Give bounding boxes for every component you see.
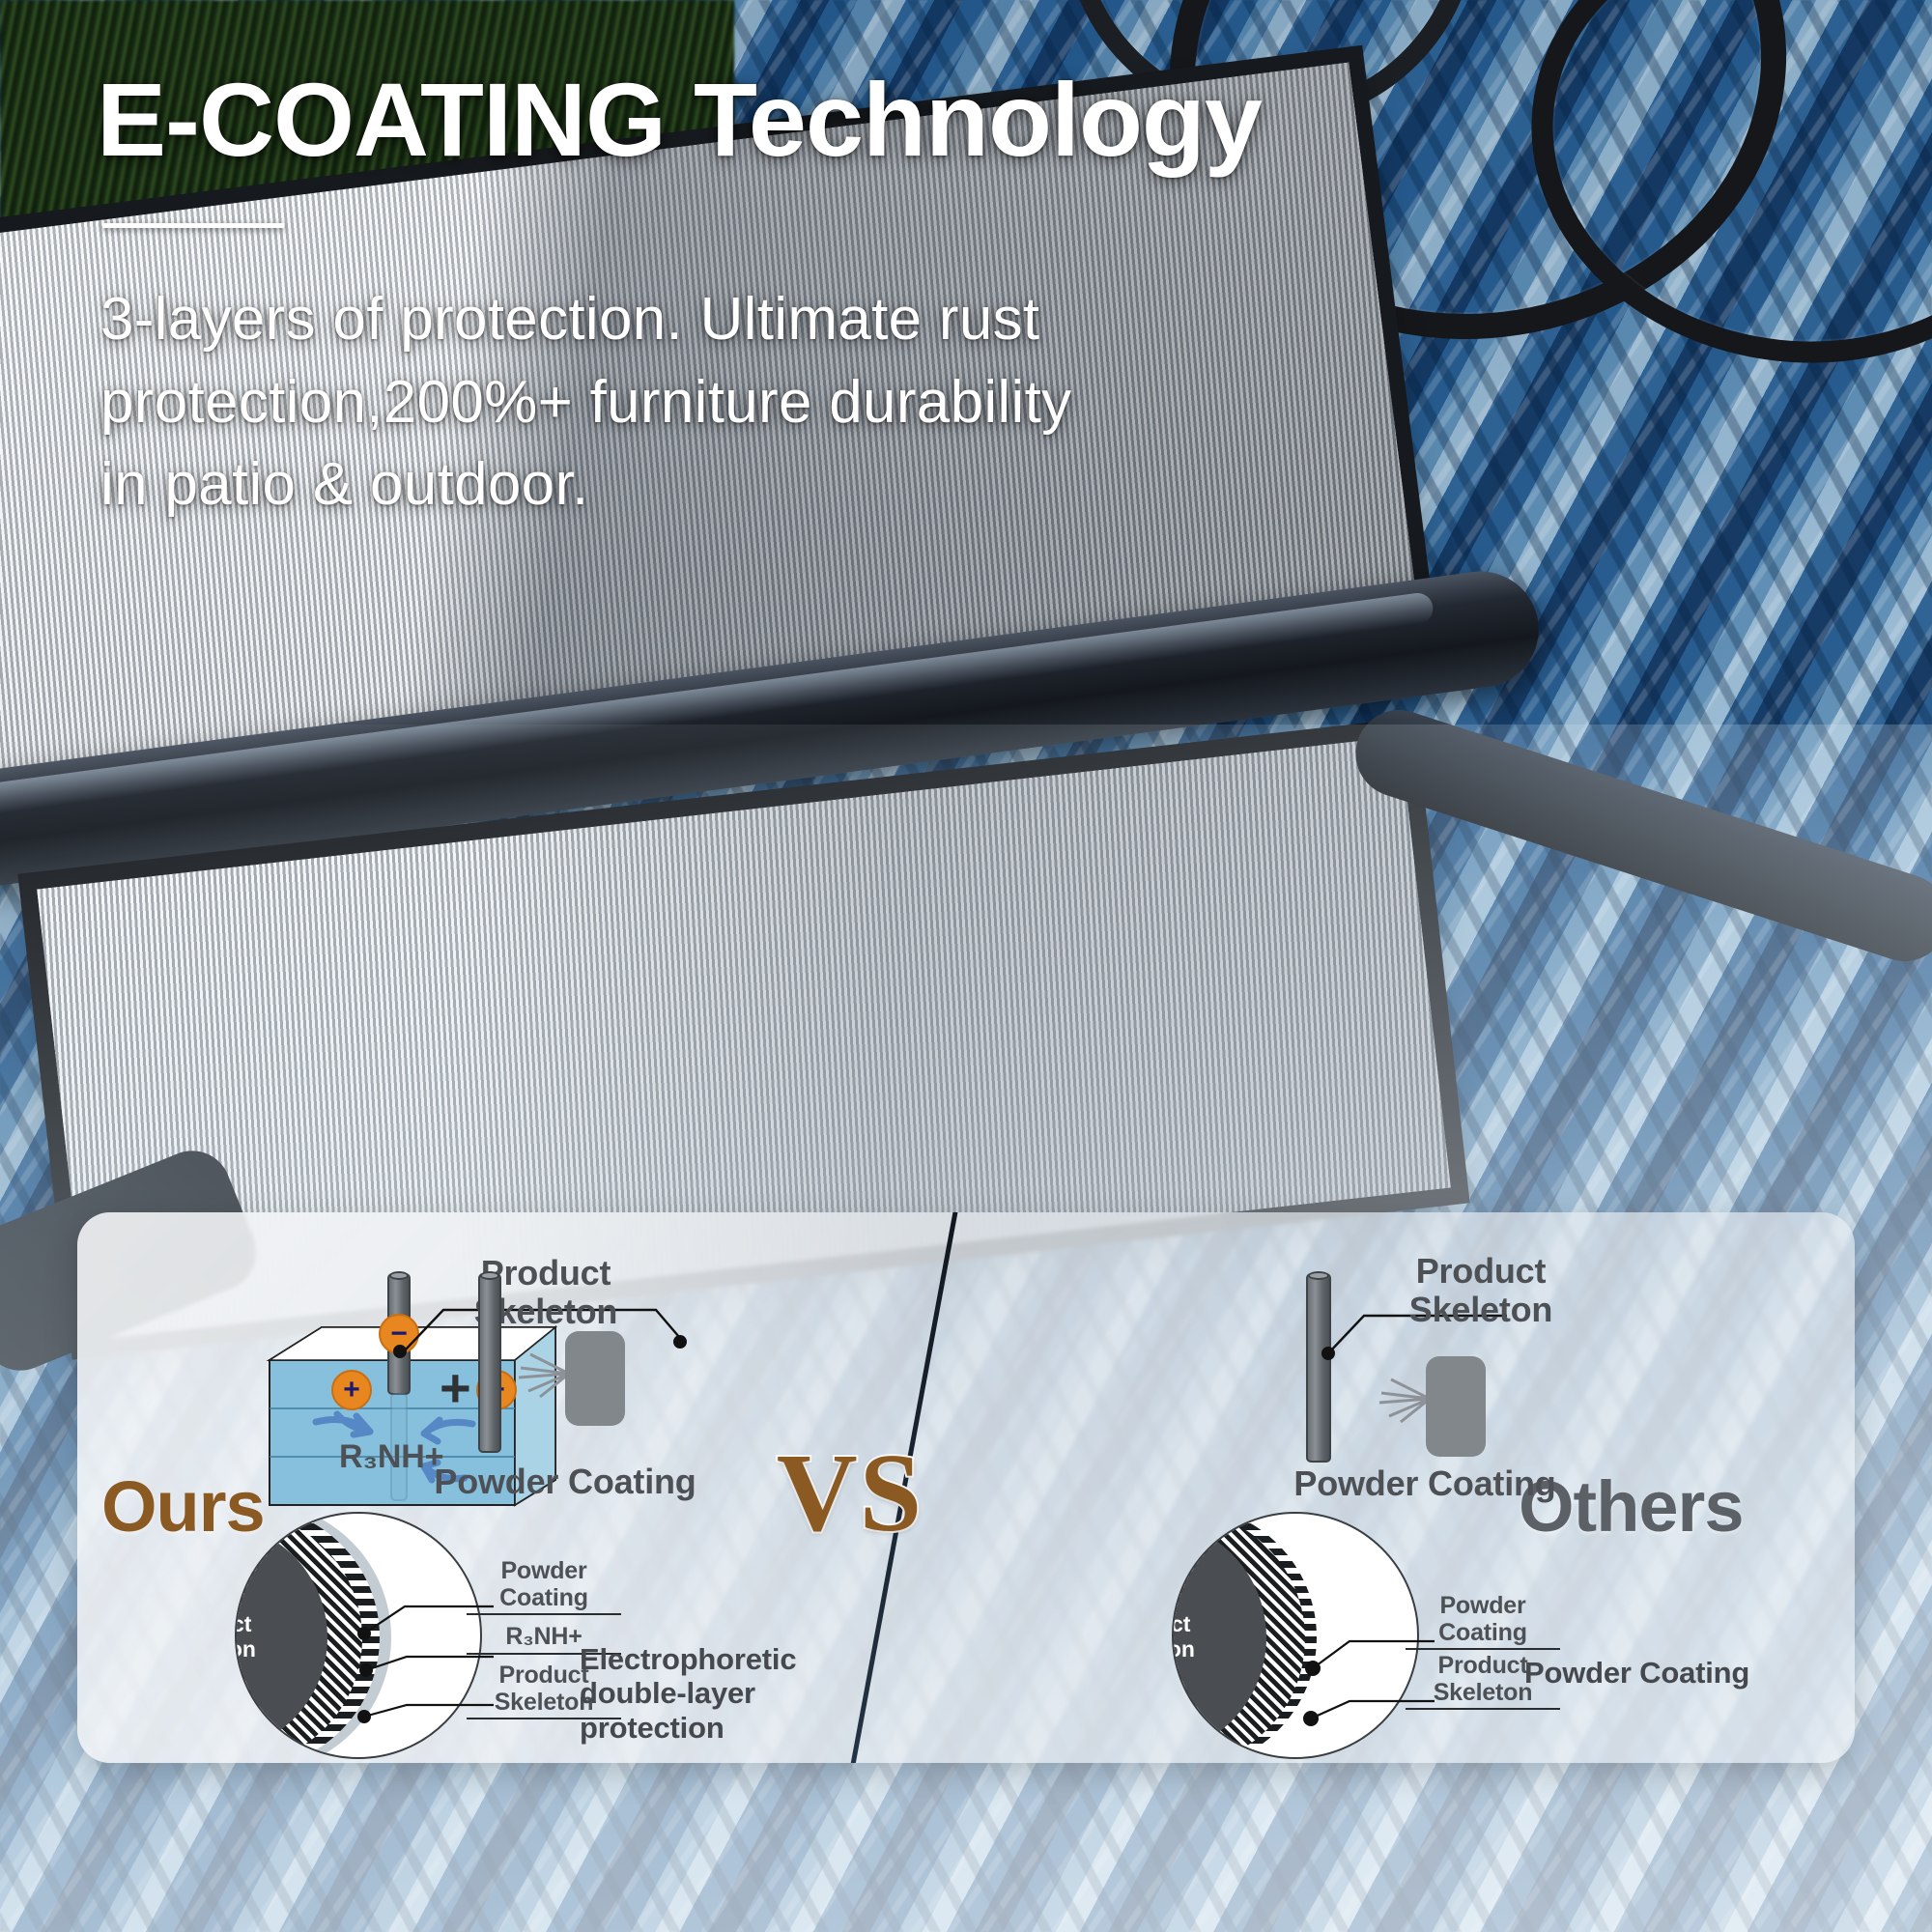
others-rod-cap-icon: [1308, 1271, 1329, 1280]
others-caption: Powder Coating: [1524, 1656, 1749, 1690]
ours-anode-contact-dot: [673, 1335, 687, 1349]
plus-operator: +: [440, 1358, 471, 1418]
ours-title: Ours: [101, 1465, 265, 1548]
vs-label: VS: [720, 1430, 980, 1558]
infographic-canvas: E-COATING Technology 3-layers of protect…: [0, 0, 1932, 1932]
ours-powder-coating-label: Powder Coating: [425, 1463, 705, 1501]
others-product-skeleton-label: Product Skeleton: [1360, 1252, 1602, 1328]
subtitle-text: 3-layers of protection. Ultimate rust pr…: [100, 278, 1076, 526]
anode-rod-cap-icon: [480, 1271, 499, 1280]
page-title: E-COATING Technology: [97, 64, 1352, 177]
others-process-diagram: Product Skeleton Powder Coating: [1256, 1256, 1662, 1488]
ours-cathode-contact-dot: [393, 1345, 407, 1358]
others-cross-section-group: Product Skeleton Powder Coating Product …: [1172, 1512, 1790, 1763]
ours-caption: Electrophoretic double-layer protection: [580, 1642, 898, 1745]
others-label-powder-coating: Powder Coating: [1406, 1593, 1560, 1650]
ours-product-skeleton-label: Product Skeleton: [425, 1254, 667, 1330]
ours-label-powder-coating: Powder Coating: [467, 1558, 621, 1615]
others-spray-gun-icon: [1426, 1356, 1486, 1457]
cation-left-icon: +: [331, 1370, 372, 1410]
ours-anode-rod: [478, 1273, 501, 1453]
title-underline-rule: [102, 223, 284, 228]
others-powder-coating-label: Powder Coating: [1265, 1464, 1584, 1503]
spray-gun-icon: [565, 1331, 625, 1426]
rod-cap-icon: [389, 1271, 409, 1280]
others-contact-dot: [1321, 1347, 1335, 1360]
